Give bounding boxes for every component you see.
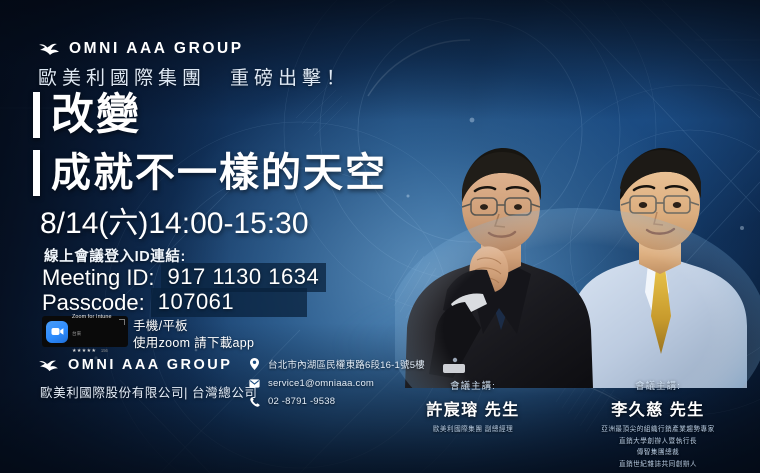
contact-phone-row[interactable]: 02 -8791 -9538: [248, 396, 425, 407]
dove-icon: [38, 41, 60, 57]
headline-text-1: 改變: [51, 94, 141, 137]
app-note-line-2: 使用zoom 請下載app: [133, 336, 254, 350]
speaker-caption-left: 會議主講: 許宸瑢 先生 歐美利國際集團 副總經理: [408, 378, 538, 436]
app-note-line-1: 手機/平板: [133, 319, 188, 333]
footer-company-name: 歐美利國際股份有限公司| 台灣總公司: [40, 382, 258, 401]
headline-text-2: 成就不一樣的天空: [51, 153, 387, 193]
dove-icon: [38, 358, 59, 373]
contact-phone-text: 02 -8791 -9538: [268, 396, 335, 407]
speaker-credential-item: 歐美利國際集團 副總經理: [408, 424, 538, 436]
location-pin-icon: [248, 358, 261, 370]
speaker-credential-item: 亞洲最頂尖的組織行銷產業趨勢專家: [578, 424, 738, 436]
phone-icon: [248, 397, 261, 407]
accent-bar-icon: [33, 92, 40, 138]
speaker-credential-item: 傳智集團總裁: [578, 447, 738, 459]
zoom-badge-rating-count: 156: [101, 348, 108, 353]
brand-footer-wordmark: OMNI AAA GROUP: [68, 357, 232, 373]
speaker-role-label: 會議主講:: [578, 378, 738, 392]
chinese-tagline: 歐美利國際集團 重磅出擊！: [38, 63, 350, 90]
speaker-credentials: 亞洲最頂尖的組織行銷產業趨勢專家 直銷大學創辦人暨執行長 傳智集團總裁 直銷世紀…: [578, 424, 738, 470]
speaker-caption-right: 會議主講: 李久慈 先生 亞洲最頂尖的組織行銷產業趨勢專家 直銷大學創辦人暨執行…: [578, 378, 738, 470]
contact-email-row[interactable]: service1@omniaaa.com: [248, 378, 425, 389]
contact-address-row: 台北市內湖區民權東路6段16-1號5樓: [248, 357, 425, 371]
contact-email-text: service1@omniaaa.com: [268, 378, 374, 389]
app-download-note: 手機/平板 使用zoom 請下載app: [133, 318, 254, 352]
meeting-passcode-value[interactable]: 107061: [151, 288, 307, 317]
zoom-badge-stars: ★★★★★: [72, 348, 96, 354]
zoom-badge-subtitle: 台來: [72, 331, 81, 336]
contact-address-text: 台北市內湖區民權東路6段16-1號5樓: [268, 357, 425, 371]
speaker-name: 李久慈 先生: [578, 396, 738, 420]
speaker-credential-item: 直銷大學創辦人暨執行長: [578, 436, 738, 448]
brand-wordmark: OMNI AAA GROUP: [69, 40, 244, 58]
zoom-badge-title: Zoom for Intune: [72, 314, 112, 320]
promotional-banner: OMNI AAA GROUP 歐美利國際集團 重磅出擊！ 改變 成就不一樣的天空…: [0, 0, 760, 473]
speakers-photo: [395, 78, 760, 388]
badge-corner-icon: [119, 319, 125, 325]
zoom-video-camera-icon: [46, 321, 68, 343]
contact-list: 台北市內湖區民權東路6段16-1號5樓 service1@omniaaa.com…: [248, 357, 425, 407]
zoom-badge-text: Zoom for Intune 台來 ★★★★★ 156: [72, 306, 112, 356]
speaker-name: 許宸瑢 先生: [408, 396, 538, 420]
brand-footer: OMNI AAA GROUP: [38, 357, 232, 373]
accent-bar-icon: [33, 150, 40, 196]
headline-line-1: 改變: [33, 92, 141, 138]
speaker-credential-item: 直銷世紀雜誌共同創辦人: [578, 459, 738, 471]
speaker-role-label: 會議主講:: [408, 378, 538, 392]
headline-line-2: 成就不一樣的天空: [33, 150, 387, 196]
brand-header: OMNI AAA GROUP: [38, 40, 244, 58]
meeting-id-key: Meeting ID:: [42, 265, 155, 291]
envelope-icon: [248, 379, 261, 388]
speaker-credentials: 歐美利國際集團 副總經理: [408, 424, 538, 436]
zoom-app-badge[interactable]: Zoom for Intune 台來 ★★★★★ 156: [42, 316, 128, 347]
event-date-time: 8/14(六)14:00-15:30: [40, 198, 309, 242]
